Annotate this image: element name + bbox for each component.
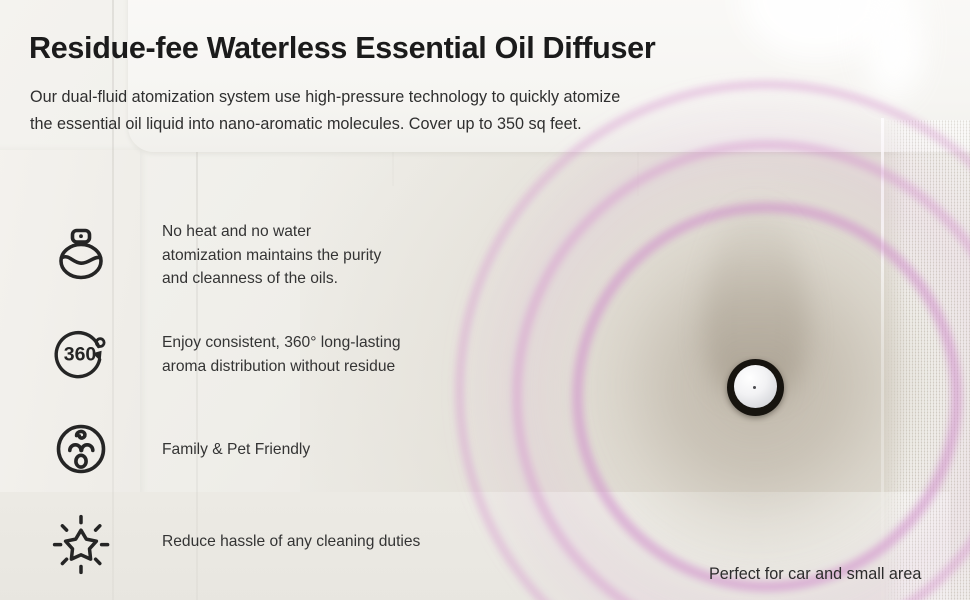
baby-face-icon (50, 418, 112, 480)
feature-line: No heat and no water (162, 220, 381, 244)
feature-line: and cleanness of the oils. (162, 267, 381, 291)
360-degree-rotation-icon: 360 (50, 322, 112, 384)
feature-text-family-pet-friendly: Family & Pet Friendly (162, 438, 310, 462)
feature-line: aroma distribution without residue (162, 355, 401, 379)
feature-line: atomization maintains the purity (162, 244, 381, 268)
diffuser-device[interactable] (727, 359, 784, 416)
bottom-caption: Perfect for car and small area (709, 565, 921, 584)
subtitle-line-2: the essential oil liquid into nano-aroma… (30, 111, 770, 138)
feature-text-360-aroma: Enjoy consistent, 360° long-lasting arom… (162, 331, 401, 378)
fabric-texture-strip (884, 120, 970, 600)
feature-line: Enjoy consistent, 360° long-lasting (162, 331, 401, 355)
subtitle-line-1: Our dual-fluid atomization system use hi… (30, 84, 770, 111)
oil-bottle-icon (50, 223, 112, 285)
subtitle-paragraph: Our dual-fluid atomization system use hi… (30, 84, 770, 138)
sparkling-star-icon (46, 508, 108, 570)
360-badge-label: 360 (64, 343, 97, 365)
device-nozzle-dot (753, 386, 756, 389)
page-title: Residue-fee Waterless Essential Oil Diff… (29, 31, 789, 66)
feature-line: Reduce hassle of any cleaning duties (162, 530, 420, 554)
feature-text-easy-cleaning: Reduce hassle of any cleaning duties (162, 530, 420, 554)
feature-text-no-heat: No heat and no water atomization maintai… (162, 220, 381, 291)
product-feature-poster: Residue-fee Waterless Essential Oil Diff… (0, 0, 970, 600)
feature-line: Family & Pet Friendly (162, 438, 310, 462)
highlight-blob-3 (888, 26, 914, 82)
